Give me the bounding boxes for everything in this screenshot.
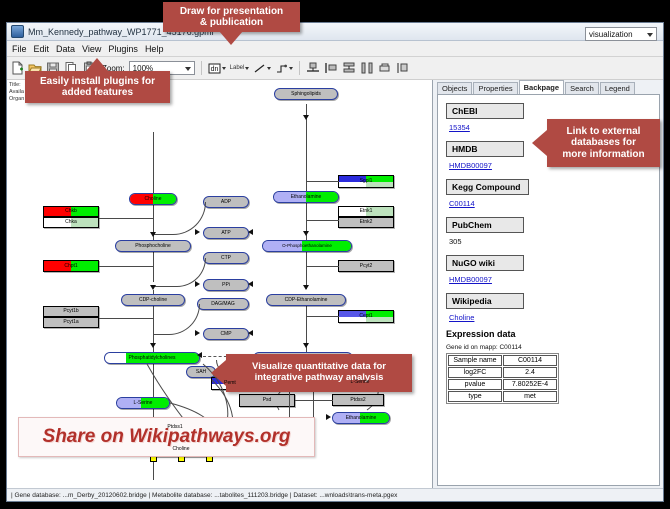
section-nugo-wiki: NuGO wiki HMDB00097 xyxy=(446,253,659,284)
callout-draw-line2: & publication xyxy=(180,17,283,29)
arrow-dag-cmp xyxy=(195,330,200,336)
arrow-to-ethanolamine-bottom xyxy=(326,414,331,420)
gene-id-on-mapp: Gene id on mapp: C00114 xyxy=(446,344,659,351)
node-label: Pemt xyxy=(224,381,236,386)
callout-visualize-data: Visualize quantitative data for integrat… xyxy=(226,354,412,392)
arrow-ppi-in xyxy=(248,281,253,287)
gene-node-pcyt1b[interactable]: Pcyt1b xyxy=(43,306,99,317)
group-icon[interactable] xyxy=(378,61,392,75)
node-label: Pcyt1b xyxy=(63,309,78,314)
node-ethanolamine-top[interactable]: Ethanolamine xyxy=(273,191,339,203)
visualization-combo[interactable]: visualization xyxy=(585,27,657,41)
edge-etnk xyxy=(306,220,339,221)
node-label: Chkb xyxy=(65,209,77,214)
tab-properties[interactable]: Properties xyxy=(473,82,517,94)
node-sphingolipids[interactable]: Sphingolipids xyxy=(274,88,338,100)
arrow-ctp-ppi xyxy=(195,281,200,287)
align-bottom-icon[interactable] xyxy=(306,61,320,75)
cell-key: pvalue xyxy=(448,379,502,390)
section-pubchem: PubChem 305 xyxy=(446,215,659,246)
table-row: pvalue 7.80252E-4 xyxy=(448,379,557,390)
node-label: Sphingolipids xyxy=(291,92,321,97)
callout-link-line3: more information xyxy=(562,149,644,161)
section-kegg-compound: Kegg Compound C00114 xyxy=(446,177,659,208)
distribute-vertical-icon[interactable] xyxy=(342,61,356,75)
edge-pcyt1 xyxy=(99,318,153,319)
svg-text:dn: dn xyxy=(210,66,218,73)
node-o-phosphoethanolamine[interactable]: O-Phosphoethanolamine xyxy=(262,240,352,252)
arrow-cmp-in xyxy=(248,330,253,336)
cell-value: 2.4 xyxy=(503,367,557,378)
expression-table: Sample name C00114 log2FC 2.4 pvalue 7.8… xyxy=(446,353,559,404)
gene-node-chpt1[interactable]: Chpt1 xyxy=(43,260,99,272)
callout-install-plugins: Easily install plugins for added feature… xyxy=(25,71,170,103)
arrow-adp-atp xyxy=(195,229,200,235)
node-label: SAH xyxy=(196,370,206,375)
node-label: Pcyt1a xyxy=(63,320,78,325)
chevron-down-icon xyxy=(245,67,249,70)
node-label: CDP-choline xyxy=(139,298,167,303)
canvas-meta-title: Title: xyxy=(9,82,24,89)
link-kegg[interactable]: C00114 xyxy=(449,199,659,208)
node-label: CDP-Ethanolamine xyxy=(285,298,328,303)
table-row: Sample name C00114 xyxy=(448,355,557,366)
cell-value: C00114 xyxy=(503,355,557,366)
node-label: PPi xyxy=(222,283,230,288)
gene-node-etnk2[interactable]: Etnk2 xyxy=(338,217,394,228)
node-label: Ethanolamine xyxy=(346,416,377,421)
gene-node-etnk1[interactable]: Etnk1 xyxy=(338,206,394,217)
order-icon[interactable] xyxy=(396,61,410,75)
menu-view[interactable]: View xyxy=(82,44,101,54)
node-label: Ptdss2 xyxy=(350,398,365,403)
chevron-down-icon xyxy=(185,67,191,71)
gene-node-cept1[interactable]: Cept1 xyxy=(338,310,394,323)
edge-chpt1 xyxy=(99,266,153,267)
window-titlebar: Mm_Kennedy_pathway_WP1771_45176.gpml xyxy=(7,23,663,41)
node-label: Chpt1 xyxy=(64,264,77,269)
node-label: Choline xyxy=(173,447,190,452)
link-wikipedia[interactable]: Choline xyxy=(449,313,659,322)
node-ethanolamine-bottom[interactable]: Ethanolamine xyxy=(332,412,390,424)
node-ctp[interactable]: CTP xyxy=(203,252,249,264)
node-label: ADP xyxy=(221,200,231,205)
tab-search[interactable]: Search xyxy=(565,82,599,94)
node-atp[interactable]: ATP xyxy=(203,227,249,239)
callout-plugins-line1: Easily install plugins for xyxy=(40,76,155,88)
canvas-meta-availability: Availa xyxy=(9,89,24,96)
toolbar-separator xyxy=(299,61,300,75)
node-label: O-Phosphoethanolamine xyxy=(282,244,332,249)
statusbar-text: | Gene database: ...m_Derby_20120602.bri… xyxy=(11,492,397,499)
link-nugo[interactable]: HMDB00097 xyxy=(449,275,659,284)
node-label: Ethanolamine xyxy=(291,195,322,200)
menu-file[interactable]: File xyxy=(12,44,27,54)
node-label: CTP xyxy=(221,256,231,261)
node-label: Psd xyxy=(263,398,272,403)
arrow-to-phosphatidylethanolamine xyxy=(303,343,309,348)
callout-draw-for-presentation: Draw for presentation & publication xyxy=(163,2,300,32)
menubar: File Edit Data View Plugins Help xyxy=(7,41,663,57)
cell-key: Sample name xyxy=(448,355,502,366)
node-label: Etnk1 xyxy=(360,209,373,214)
callout-external-databases: Link to external databases for more info… xyxy=(547,119,660,167)
node-label: Cept1 xyxy=(359,314,372,319)
table-row: type met xyxy=(448,391,557,402)
callout-share-wikipathways: Share on Wikipathways.org xyxy=(18,417,315,457)
chevron-down-icon xyxy=(647,33,653,37)
tab-objects[interactable]: Objects xyxy=(437,82,472,94)
cell-value: met xyxy=(503,391,557,402)
connector-tool-button[interactable] xyxy=(275,62,293,75)
callout-draw-line1: Draw for presentation xyxy=(180,6,283,18)
menu-edit[interactable]: Edit xyxy=(34,44,50,54)
menu-data[interactable]: Data xyxy=(56,44,75,54)
arrow-to-ethanolamine xyxy=(303,115,309,120)
node-adp[interactable]: ADP xyxy=(203,196,249,208)
arrow-to-cdp-choline xyxy=(150,285,156,290)
section-wikipedia: Wikipedia Choline xyxy=(446,291,659,322)
node-ppi[interactable]: PPi xyxy=(203,279,249,291)
gene-node-chka[interactable]: Chka xyxy=(43,217,99,228)
cell-key: type xyxy=(448,391,502,402)
chevron-down-icon xyxy=(289,67,293,70)
gene-node-ptdss2[interactable]: Ptdss2 xyxy=(332,394,384,406)
line-tool-button[interactable] xyxy=(253,62,271,75)
edge-pc-to-choline-anchor xyxy=(147,364,148,365)
statusbar: | Gene database: ...m_Derby_20120602.bri… xyxy=(7,488,663,501)
menu-plugins[interactable]: Plugins xyxy=(108,44,138,54)
node-label: Phosphatidylcholines xyxy=(129,356,176,361)
label-tool-text: Label xyxy=(230,65,245,71)
callout-link-line2: databases for xyxy=(562,137,644,149)
node-phosphatidylcholines[interactable]: Phosphatidylcholines xyxy=(104,352,200,364)
gene-node-psd[interactable]: Psd xyxy=(239,394,295,407)
arrow-to-phosphatidylcholines xyxy=(150,343,156,348)
datanode-tool-button[interactable]: dn xyxy=(208,62,226,75)
edge-chk xyxy=(99,218,153,219)
node-label: L-Serine xyxy=(351,380,370,385)
node-label: Choline xyxy=(145,197,162,202)
edge-cept1 xyxy=(306,316,339,317)
node-label: Phosphocholine xyxy=(135,244,171,249)
side-panel-tabs: Objects Properties Backpage Search Legen… xyxy=(433,80,663,94)
pathvisio-icon xyxy=(11,25,24,38)
chevron-down-icon xyxy=(222,67,226,70)
section-header-kegg: Kegg Compound xyxy=(446,179,529,195)
cell-key: log2FC xyxy=(448,367,502,378)
node-label: Ptdss1 xyxy=(167,425,182,430)
edge-psd xyxy=(295,400,333,401)
section-header-hmdb: HMDB xyxy=(446,141,524,157)
node-label: Chka xyxy=(65,220,77,225)
callout-draw-arrow xyxy=(219,31,243,45)
table-row: log2FC 2.4 xyxy=(448,367,557,378)
canvas-metadata: Title: Availa Organ xyxy=(9,82,24,103)
align-left-icon[interactable] xyxy=(324,61,338,75)
distribute-horizontal-icon[interactable] xyxy=(360,61,374,75)
arrow-to-ophosphoethanolamine xyxy=(303,231,309,236)
arrow-to-phosphocholine xyxy=(150,232,156,237)
node-label: Sgpl1 xyxy=(360,179,373,184)
expression-data-title: Expression data xyxy=(446,329,659,339)
chevron-down-icon xyxy=(267,67,271,70)
edge-sgpl1 xyxy=(306,181,339,182)
node-label: Etnk2 xyxy=(360,220,373,225)
value-pubchem: 305 xyxy=(449,237,659,246)
node-l-serine-left[interactable]: L-Serine xyxy=(116,397,170,409)
gene-node-chkb[interactable]: Chkb xyxy=(43,206,99,217)
node-cmp[interactable]: CMP xyxy=(203,328,249,340)
tab-backpage[interactable]: Backpage xyxy=(519,80,564,94)
gene-node-pcyt2[interactable]: Pcyt2 xyxy=(338,260,394,272)
node-label: CMP xyxy=(220,332,231,337)
node-phosphocholine[interactable]: Phosphocholine xyxy=(115,240,191,252)
section-header-wikipedia: Wikipedia xyxy=(446,293,524,309)
menu-help[interactable]: Help xyxy=(145,44,164,54)
gene-node-pcyt1a[interactable]: Pcyt1a xyxy=(43,317,99,328)
arrow-atp-in xyxy=(248,229,253,235)
edge-pcyt2 xyxy=(306,266,339,267)
gene-node-sgpl1[interactable]: Sgpl1 xyxy=(338,175,394,188)
node-label: ATP xyxy=(221,231,230,236)
tab-legend[interactable]: Legend xyxy=(600,82,635,94)
arrow-to-cdp-ethanolamine xyxy=(303,285,309,290)
callout-plugins-arrow xyxy=(86,58,108,71)
node-cdp-ethanolamine[interactable]: CDP-Ethanolamine xyxy=(266,294,346,306)
callout-plugins-line2: added features xyxy=(40,87,155,99)
section-header-pubchem: PubChem xyxy=(446,217,524,233)
new-file-icon[interactable] xyxy=(10,61,24,75)
label-tool-button[interactable]: Label xyxy=(230,65,250,71)
toolbar-separator xyxy=(201,61,202,75)
node-dagmag[interactable]: DAG/MAG xyxy=(197,298,249,310)
callout-link-line1: Link to external xyxy=(562,126,644,138)
arrow-pe-to-pc xyxy=(197,352,202,358)
section-header-nugo: NuGO wiki xyxy=(446,255,524,271)
node-label: L-Serine xyxy=(134,401,153,406)
callout-link-arrow xyxy=(532,130,547,156)
node-label: Pcyt2 xyxy=(360,264,373,269)
screenshot-root: Mm_Kennedy_pathway_WP1771_45176.gpml Fil… xyxy=(0,0,670,509)
node-label: DAG/MAG xyxy=(211,302,235,307)
cell-value: 7.80252E-4 xyxy=(503,379,557,390)
section-header-chebi: ChEBI xyxy=(446,103,524,119)
visualization-value: visualization xyxy=(589,30,633,39)
canvas-meta-organism: Organ xyxy=(9,96,24,103)
